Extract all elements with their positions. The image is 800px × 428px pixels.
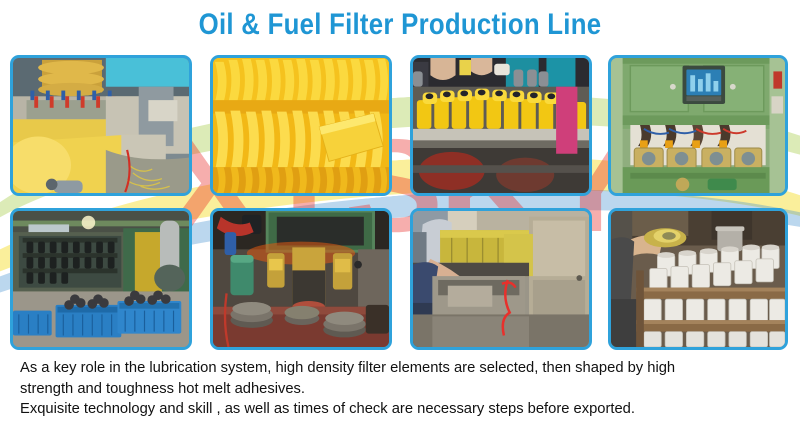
photo-gallery [0, 55, 800, 350]
page-title: Oil & Fuel Filter Production Line [56, 8, 744, 42]
caption-line-3: Exquisite technology and skill , as well… [20, 399, 761, 420]
photo-7-image [413, 211, 589, 347]
photo-3-image [413, 58, 589, 193]
gallery-photo-4[interactable] [608, 55, 788, 196]
photo-8-image [611, 211, 785, 347]
photo-5-image [13, 211, 189, 347]
caption-block: As a key role in the lubrication system,… [20, 358, 761, 420]
gallery-photo-2[interactable] [210, 55, 392, 196]
product-banner: Oil & Fuel Filter Production Line XTSKY … [0, 0, 800, 428]
caption-line-2: strength and toughness hot melt adhesive… [20, 379, 761, 400]
photo-2-image [213, 58, 389, 193]
gallery-photo-3[interactable] [410, 55, 592, 196]
photo-1-image [13, 58, 189, 193]
photo-6-image [213, 211, 389, 347]
gallery-photo-6[interactable] [210, 208, 392, 350]
gallery-photo-7[interactable] [410, 208, 592, 350]
gallery-photo-8[interactable] [608, 208, 788, 350]
photo-4-image [611, 58, 785, 193]
caption-line-1: As a key role in the lubrication system,… [20, 358, 761, 379]
gallery-photo-5[interactable] [10, 208, 192, 350]
gallery-photo-1[interactable] [10, 55, 192, 196]
